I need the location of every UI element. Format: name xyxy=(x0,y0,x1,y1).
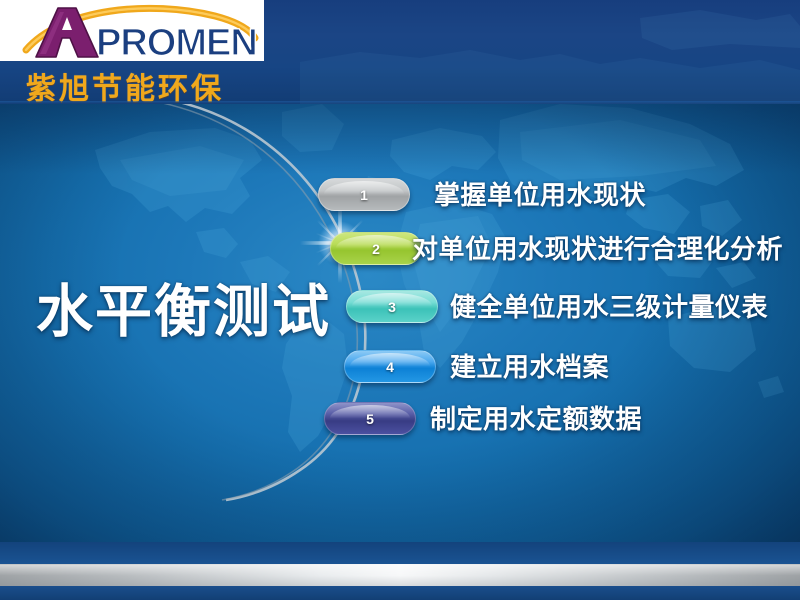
step-number-2: 2 xyxy=(330,232,422,265)
step-label-2: 对单位用水现状进行合理化分析 xyxy=(412,229,783,266)
step-label-3: 健全单位用水三级计量仪表 xyxy=(450,287,768,324)
brand-logo-chinese: 紫旭节能环保 xyxy=(26,64,224,108)
step-badge-1[interactable]: 1 xyxy=(318,178,410,211)
step-badge-4[interactable]: 4 xyxy=(344,350,436,383)
step-badge-5[interactable]: 5 xyxy=(324,402,416,435)
step-label-1: 掌握单位用水现状 xyxy=(434,175,646,212)
step-number-1: 1 xyxy=(318,178,410,211)
step-badge-2[interactable]: 2 xyxy=(330,232,422,265)
step-label-5: 制定用水定额数据 xyxy=(430,399,642,436)
slide-canvas: 水平衡测试 1 掌握单位用水现状 2 对单位用水现状进行合理化分析 3 xyxy=(0,0,800,600)
step-number-5: 5 xyxy=(324,402,416,435)
step-number-4: 4 xyxy=(344,350,436,383)
footer-bands xyxy=(0,542,800,600)
svg-text:PROMEN: PROMEN xyxy=(96,22,257,61)
footer-silver-band xyxy=(0,564,800,588)
header-band: PROMEN 紫旭节能环保 xyxy=(0,0,800,104)
step-badge-3[interactable]: 3 xyxy=(346,290,438,323)
footer-blue-top xyxy=(0,542,800,564)
brand-logo[interactable]: PROMEN xyxy=(0,0,264,61)
footer-blue-bottom xyxy=(0,586,800,600)
step-number-3: 3 xyxy=(346,290,438,323)
step-label-4: 建立用水档案 xyxy=(450,347,609,384)
